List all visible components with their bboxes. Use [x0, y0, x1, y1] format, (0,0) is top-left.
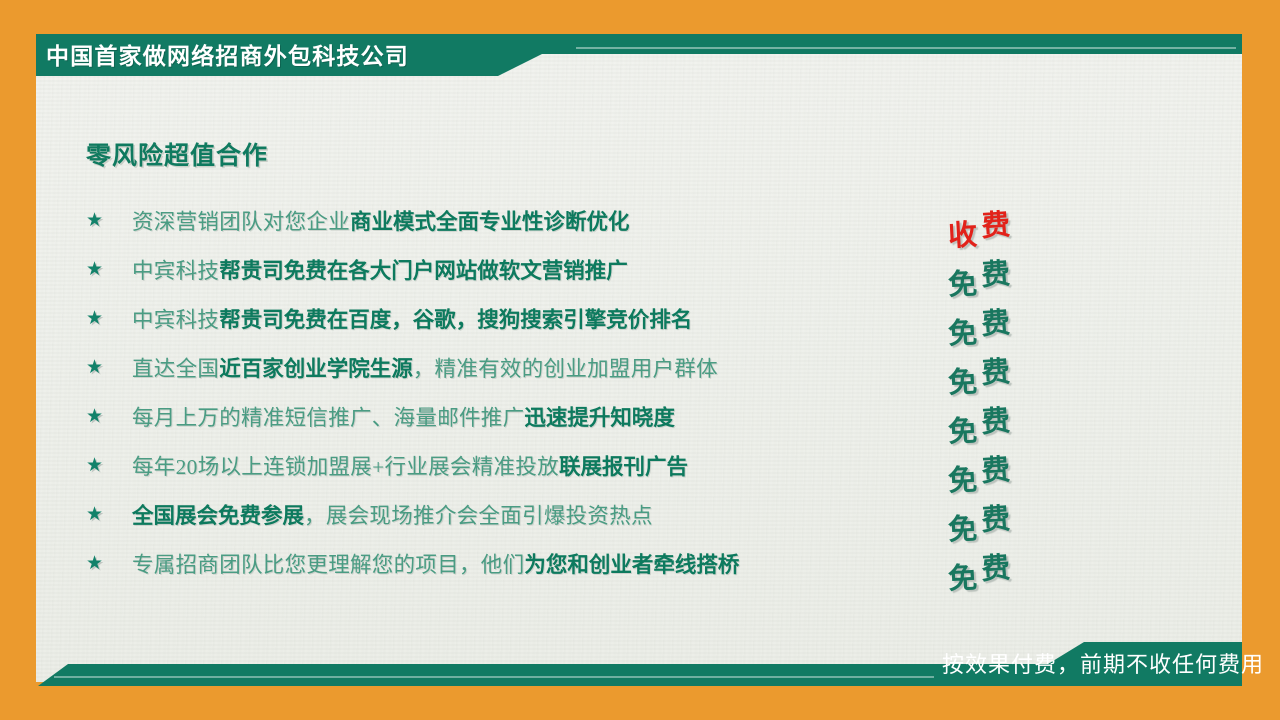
badge-char-2: 费	[980, 299, 1012, 343]
text-light: 每月上万的精准短信推广、海量邮件推广	[132, 406, 524, 430]
list-item: ★ 每年20场以上连锁加盟展+行业展会精准投放联展报刊广告	[86, 441, 1086, 490]
text-light-tail: ，展会现场推介会全面引爆投资热点	[304, 504, 653, 528]
text-light-tail: ，精准有效的创业加盟用户群体	[413, 357, 718, 381]
badge-char-2: 费	[980, 397, 1012, 441]
list-item: ★ 中宾科技帮贵司免费在各大门户网站做软文营销推广	[86, 245, 1086, 294]
text-bold: 帮贵司免费在百度，谷歌，搜狗搜索引擎竞价排名	[219, 308, 692, 332]
text-light: 中宾科技	[132, 259, 219, 283]
list-item: ★ 每月上万的精准短信推广、海量邮件推广迅速提升知晓度	[86, 392, 1086, 441]
star-icon: ★	[86, 554, 132, 573]
header-hairline	[576, 47, 1236, 49]
list-item: ★ 专属招商团队比您更理解您的项目，他们为您和创业者牵线搭桥	[86, 539, 1086, 588]
star-icon: ★	[86, 358, 132, 377]
footer-tagline: 按效果付费，前期不收任何费用	[942, 646, 1264, 684]
status-badge: 收费	[948, 196, 1068, 245]
badge-char-1: 免	[947, 554, 978, 597]
list-item: ★ 直达全国近百家创业学院生源，精准有效的创业加盟用户群体	[86, 343, 1086, 392]
list-item-text: 全国展会免费参展，展会现场推介会全面引爆投资热点	[132, 499, 1086, 530]
text-bold: 迅速提升知晓度	[524, 406, 675, 430]
badge-char-2: 费	[980, 250, 1012, 294]
star-icon: ★	[86, 309, 132, 328]
status-badge: 免费	[948, 245, 1068, 294]
list-item-text: 每年20场以上连锁加盟展+行业展会精准投放联展报刊广告	[132, 450, 1086, 481]
page-title: 零风险超值合作	[86, 136, 268, 172]
list-item-text: 专属招商团队比您更理解您的项目，他们为您和创业者牵线搭桥	[132, 548, 1086, 579]
list-item-text: 直达全国近百家创业学院生源，精准有效的创业加盟用户群体	[132, 352, 1086, 383]
slide-root: 中国首家做网络招商外包科技公司 零风险超值合作 ★ 资深营销团队对您企业商业模式…	[0, 0, 1280, 720]
badge-char-2: 费	[980, 544, 1012, 588]
list-item-text: 每月上万的精准短信推广、海量邮件推广迅速提升知晓度	[132, 401, 1086, 432]
status-badge: 免费	[948, 539, 1068, 588]
text-bold: 帮贵司免费在各大门户网站做软文营销推广	[219, 259, 628, 283]
status-badge: 免费	[948, 490, 1068, 539]
badge-char-2: 费	[980, 446, 1012, 490]
text-light: 每年20场以上连锁加盟展+行业展会精准投放	[132, 455, 559, 479]
badge-char-2: 费	[980, 348, 1012, 392]
text-bold: 全国展会免费参展	[132, 504, 304, 528]
benefit-list: ★ 资深营销团队对您企业商业模式全面专业性诊断优化 ★ 中宾科技帮贵司免费在各大…	[86, 196, 1086, 588]
price-badge-column: 收费 免费 免费 免费 免费 免费 免费 免费	[948, 196, 1068, 588]
list-item-text: 资深营销团队对您企业商业模式全面专业性诊断优化	[132, 205, 1086, 236]
text-bold: 近百家创业学院生源	[219, 357, 413, 381]
list-item-text: 中宾科技帮贵司免费在百度，谷歌，搜狗搜索引擎竞价排名	[132, 303, 1086, 334]
status-badge: 免费	[948, 294, 1068, 343]
badge-char-2: 费	[980, 495, 1012, 539]
status-badge: 免费	[948, 343, 1068, 392]
star-icon: ★	[86, 211, 132, 230]
star-icon: ★	[86, 407, 132, 426]
text-light: 资深营销团队对您企业	[132, 210, 350, 234]
text-bold: 联展报刊广告	[559, 455, 688, 479]
header-title: 中国首家做网络招商外包科技公司	[46, 38, 409, 74]
list-item: ★ 全国展会免费参展，展会现场推介会全面引爆投资热点	[86, 490, 1086, 539]
badge-char-2: 费	[980, 201, 1012, 245]
star-icon: ★	[86, 505, 132, 524]
footer-hairline	[54, 676, 934, 678]
status-badge: 免费	[948, 392, 1068, 441]
text-light: 专属招商团队比您更理解您的项目，他们	[132, 553, 524, 577]
text-bold: 为您和创业者牵线搭桥	[524, 553, 739, 577]
text-light: 直达全国	[132, 357, 219, 381]
list-item: ★ 中宾科技帮贵司免费在百度，谷歌，搜狗搜索引擎竞价排名	[86, 294, 1086, 343]
list-item: ★ 资深营销团队对您企业商业模式全面专业性诊断优化	[86, 196, 1086, 245]
star-icon: ★	[86, 260, 132, 279]
status-badge: 免费	[948, 441, 1068, 490]
text-bold: 商业模式全面专业性诊断优化	[350, 210, 630, 234]
list-item-text: 中宾科技帮贵司免费在各大门户网站做软文营销推广	[132, 254, 1086, 285]
star-icon: ★	[86, 456, 132, 475]
text-light: 中宾科技	[132, 308, 219, 332]
